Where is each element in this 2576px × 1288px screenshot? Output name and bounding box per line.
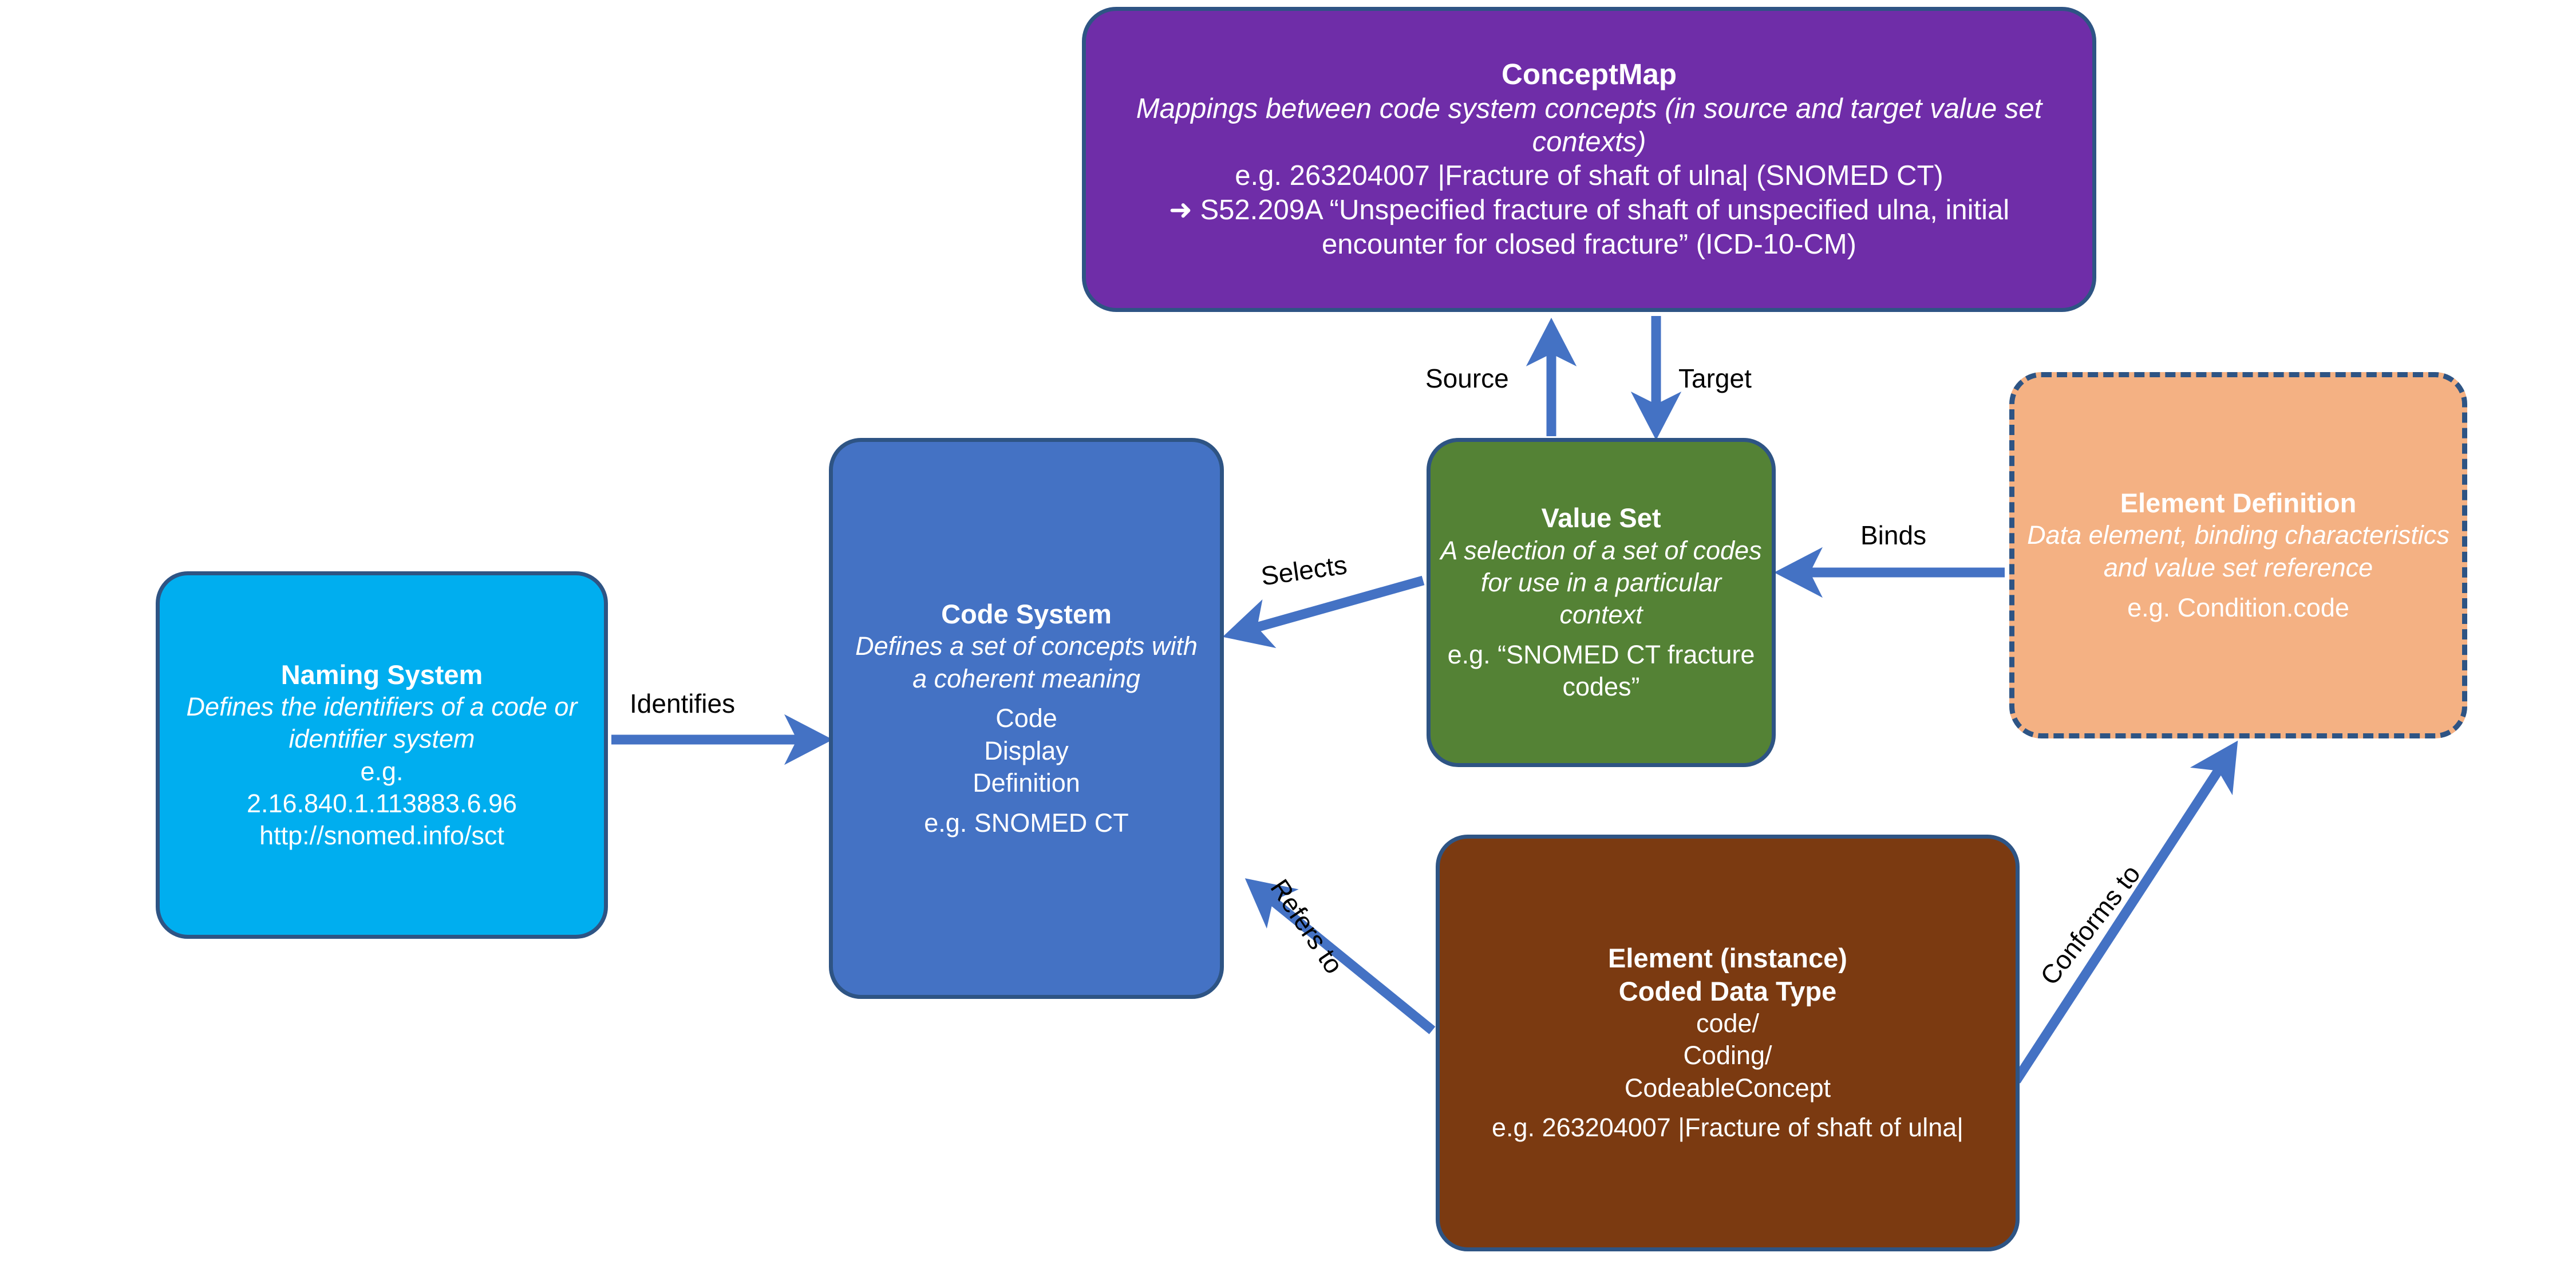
value-set-description: A selection of a set of codes for use in…: [1440, 535, 1763, 631]
value-set-example: e.g. “SNOMED CT fracture codes”: [1440, 639, 1763, 704]
edge-label-source: Source: [1425, 365, 1509, 392]
concept-map-example-2: ➜ S52.209A “Unspecified fracture of shaf…: [1105, 193, 2073, 262]
element-instance-title-line1: Element (instance): [1608, 942, 1847, 974]
arrow-conforms-to: [2016, 749, 2233, 1081]
naming-system-example-oid: 2.16.840.1.113883.6.96: [247, 788, 517, 820]
element-instance-type-code: code/: [1696, 1008, 1759, 1040]
value-set-title: Value Set: [1542, 501, 1661, 534]
code-system-example: e.g. SNOMED CT: [924, 807, 1129, 839]
concept-map-description: Mappings between code system concepts (i…: [1105, 92, 2073, 160]
node-element-instance[interactable]: Element (instance) Coded Data Type code/…: [1436, 835, 2020, 1251]
edge-label-identifies: Identifies: [630, 690, 735, 717]
element-definition-example: e.g. Condition.code: [2127, 592, 2349, 624]
naming-system-description: Defines the identifiers of a code or ide…: [171, 691, 592, 756]
code-system-description: Defines a set of concepts with a coheren…: [846, 630, 1207, 695]
element-definition-description: Data element, binding characteristics an…: [2025, 519, 2452, 584]
node-element-definition[interactable]: Element Definition Data element, binding…: [2009, 372, 2467, 738]
concept-map-title: ConceptMap: [1502, 57, 1677, 92]
naming-system-title: Naming System: [281, 658, 483, 691]
naming-system-example-uri: http://snomed.info/sct: [259, 820, 504, 852]
code-system-property-display: Display: [984, 735, 1069, 767]
arrow-selects: [1232, 580, 1423, 634]
node-value-set[interactable]: Value Set A selection of a set of codes …: [1427, 438, 1776, 767]
element-instance-example: e.g. 263204007 |Fracture of shaft of uln…: [1492, 1112, 1963, 1144]
element-instance-type-coding: Coding/: [1683, 1040, 1772, 1072]
element-instance-type-codeable: CodeableConcept: [1625, 1072, 1831, 1104]
edge-label-target: Target: [1678, 365, 1752, 392]
naming-system-example-label: e.g.: [360, 756, 403, 788]
concept-map-example-1: e.g. 263204007 |Fracture of shaft of uln…: [1235, 159, 1943, 193]
element-instance-title-line2: Coded Data Type: [1619, 975, 1836, 1008]
code-system-property-code: Code: [995, 702, 1057, 734]
element-definition-title: Element Definition: [2120, 487, 2357, 519]
node-code-system[interactable]: Code System Defines a set of concepts wi…: [829, 438, 1224, 999]
edge-label-binds: Binds: [1860, 522, 1926, 548]
node-concept-map[interactable]: ConceptMap Mappings between code system …: [1082, 7, 2096, 312]
code-system-property-definition: Definition: [973, 767, 1080, 799]
node-naming-system[interactable]: Naming System Defines the identifiers of…: [156, 571, 608, 939]
code-system-title: Code System: [941, 598, 1112, 630]
